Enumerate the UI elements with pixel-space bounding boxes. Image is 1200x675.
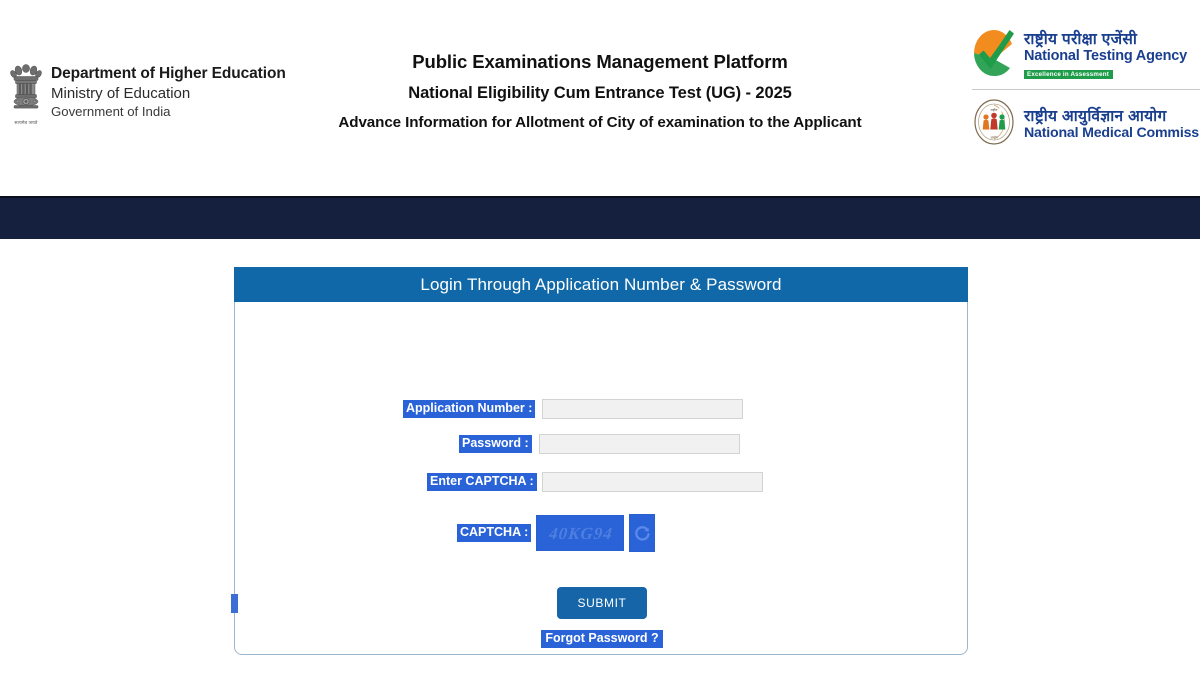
nta-hindi-name: राष्ट्रीय परीक्षा एजेंसी bbox=[1024, 32, 1187, 48]
login-form-body: Application Number : Password : Enter CA… bbox=[235, 302, 967, 654]
login-panel-title: Login Through Application Number & Passw… bbox=[234, 267, 968, 302]
captcha-code-text: 40KG94 bbox=[536, 516, 624, 551]
page-header: सत्यमेव जयते Department of Higher Educat… bbox=[0, 0, 1200, 196]
enter-captcha-input[interactable] bbox=[542, 472, 763, 492]
platform-title: Public Examinations Management Platform bbox=[282, 48, 918, 76]
enter-captcha-label: Enter CAPTCHA : bbox=[427, 473, 537, 491]
logo-divider bbox=[972, 89, 1200, 90]
header-titles: Public Examinations Management Platform … bbox=[282, 48, 918, 135]
password-label: Password : bbox=[459, 435, 532, 453]
government-name: Government of India bbox=[51, 103, 286, 120]
enter-captcha-row: Enter CAPTCHA : bbox=[427, 471, 763, 493]
nmc-emblem-logo: राष्ट्रीय आयोग bbox=[972, 98, 1016, 151]
nmc-hindi-name: राष्ट्रीय आयुर्विज्ञान आयोग bbox=[1024, 109, 1200, 125]
refresh-icon[interactable] bbox=[629, 514, 655, 552]
password-row: Password : bbox=[459, 433, 740, 455]
forgot-password-link[interactable]: Forgot Password ? bbox=[541, 630, 662, 648]
captcha-image: 40KG94 bbox=[536, 515, 624, 551]
government-branding: सत्यमेव जयते Department of Higher Educat… bbox=[8, 62, 286, 126]
svg-text:राष्ट्रीय: राष्ट्रीय bbox=[991, 108, 998, 112]
captcha-label: CAPTCHA : bbox=[457, 524, 531, 542]
page-subtitle: Advance Information for Allotment of Cit… bbox=[282, 111, 918, 135]
application-number-label: Application Number : bbox=[403, 400, 535, 418]
application-number-input[interactable] bbox=[542, 399, 743, 419]
svg-text:आयोग: आयोग bbox=[990, 136, 998, 140]
application-number-row: Application Number : bbox=[403, 398, 743, 420]
captcha-display-row: CAPTCHA : 40KG94 bbox=[457, 514, 655, 552]
login-card: Login Through Application Number & Passw… bbox=[234, 267, 968, 655]
exam-title: National Eligibility Cum Entrance Test (… bbox=[282, 81, 918, 107]
forgot-password-row: Forgot Password ? bbox=[235, 629, 969, 648]
nmc-logo-row: राष्ट्रीय आयोग राष्ट्रीय आयुर्विज्ञान आय… bbox=[972, 93, 1200, 156]
navigation-band bbox=[0, 196, 1200, 239]
emblem-caption: सत्यमेव जयते bbox=[8, 120, 44, 126]
nta-tagline-badge: Excellence in Assessment bbox=[1024, 70, 1113, 79]
nta-english-name: National Testing Agency bbox=[1024, 49, 1187, 64]
ministry-name: Ministry of Education bbox=[51, 84, 286, 104]
nta-checkmark-logo bbox=[972, 28, 1016, 83]
agency-logos: राष्ट्रीय परीक्षा एजेंसी National Testin… bbox=[972, 24, 1200, 156]
ashoka-pillar-emblem: सत्यमेव जयते bbox=[8, 62, 44, 126]
submit-button[interactable]: SUBMIT bbox=[557, 587, 648, 619]
nmc-english-name: National Medical Commission bbox=[1024, 126, 1200, 140]
department-name: Department of Higher Education bbox=[51, 64, 286, 84]
password-input[interactable] bbox=[539, 434, 740, 454]
nta-logo-row: राष्ट्रीय परीक्षा एजेंसी National Testin… bbox=[972, 24, 1200, 87]
submit-row: SUBMIT bbox=[235, 587, 969, 619]
